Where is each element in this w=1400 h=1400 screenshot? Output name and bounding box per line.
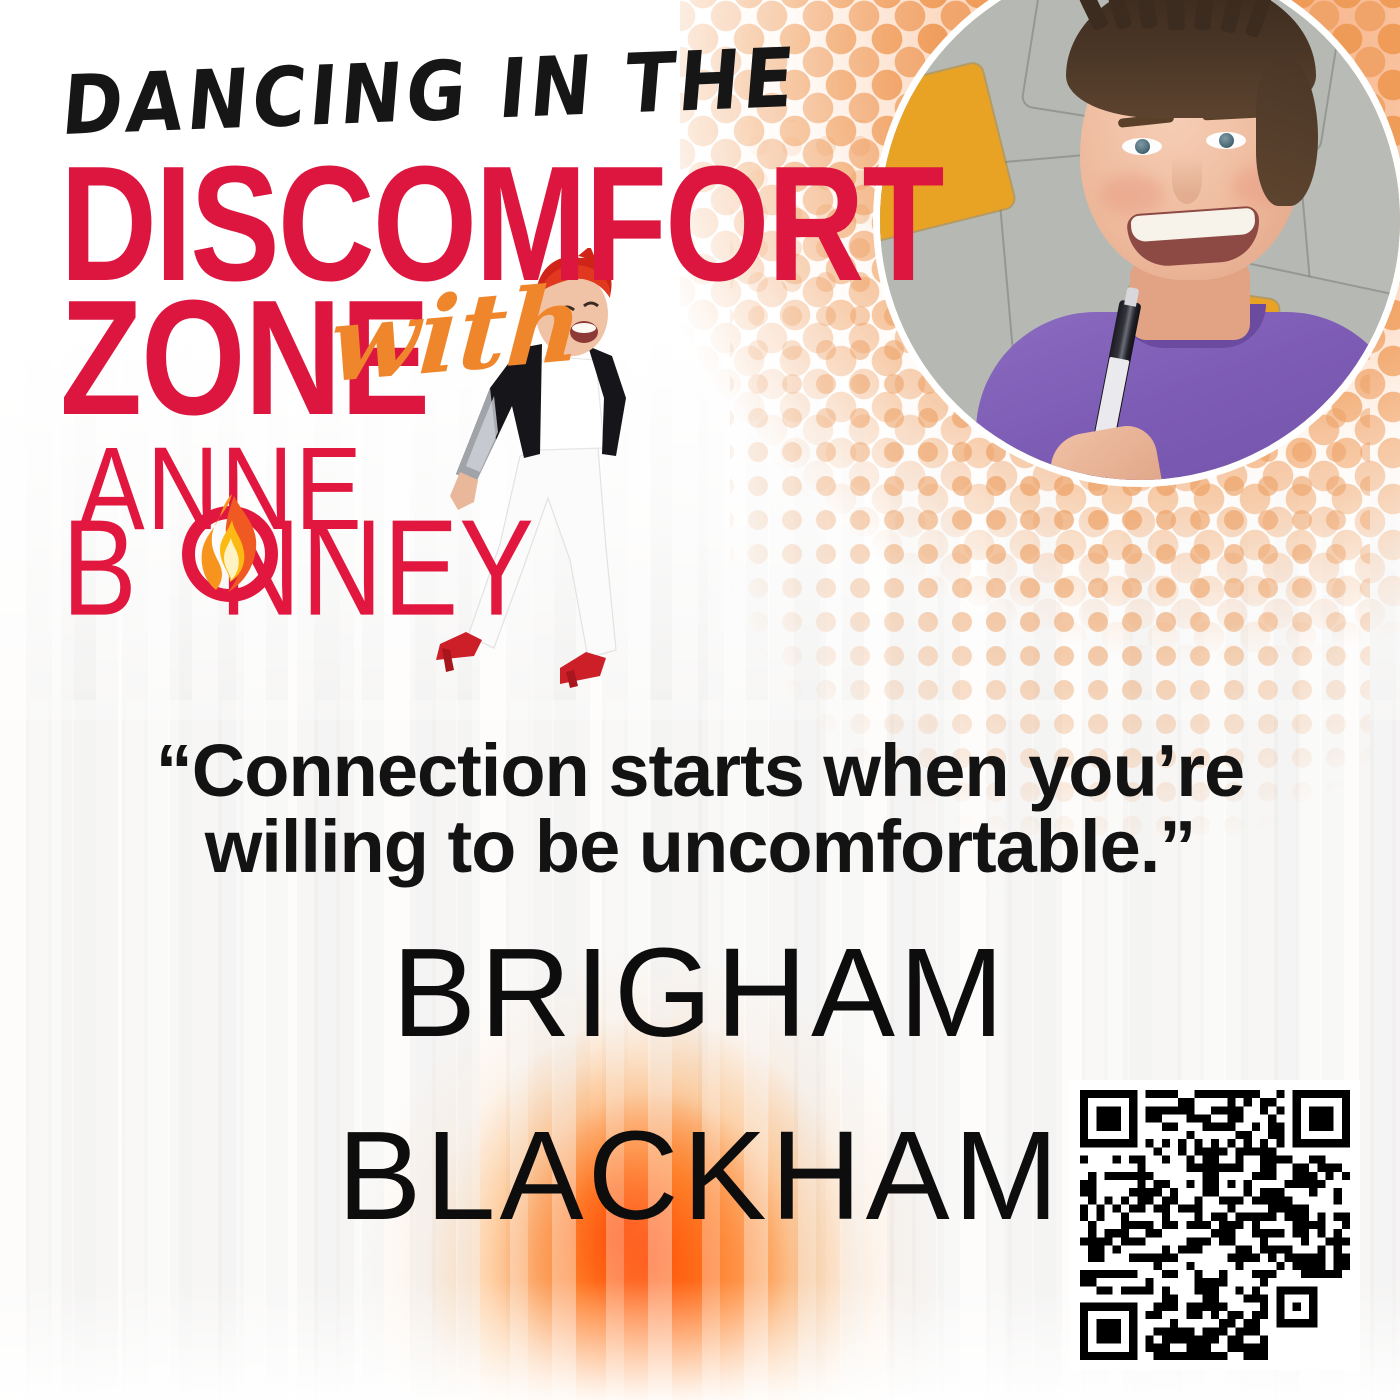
episode-quote: “Connection starts when you’re willing t… — [105, 733, 1295, 885]
host-last-name-b: B — [62, 500, 138, 637]
iris — [1219, 133, 1234, 148]
cheek-highlight — [1100, 174, 1164, 214]
qr-code[interactable] — [1070, 1080, 1360, 1370]
podcast-cover-art: DANCING IN THE DISCOMFORT ZONE with ANNE… — [0, 0, 1400, 1400]
guest-photo — [880, 0, 1400, 480]
hair-spike — [1165, 0, 1185, 30]
eye — [1206, 132, 1246, 149]
guest-first-name: BRIGHAM — [392, 930, 1008, 1056]
qr-code-graphic — [1080, 1090, 1350, 1360]
pen-tip — [1124, 287, 1139, 307]
flame-icon — [198, 492, 262, 596]
eye — [1122, 138, 1162, 155]
iris — [1135, 139, 1150, 154]
nose — [1172, 156, 1202, 204]
guest-last-name: BLACKHAM — [337, 1113, 1062, 1239]
podcast-title-with: with — [326, 260, 586, 406]
host-last-name: BNNEY — [62, 500, 535, 612]
guest-figure — [880, 0, 1400, 480]
teeth — [1130, 208, 1256, 243]
quote-line-1: “Connection starts when you’re — [156, 729, 1244, 812]
quote-line-2: willing to be uncomfortable.” — [105, 809, 1295, 885]
